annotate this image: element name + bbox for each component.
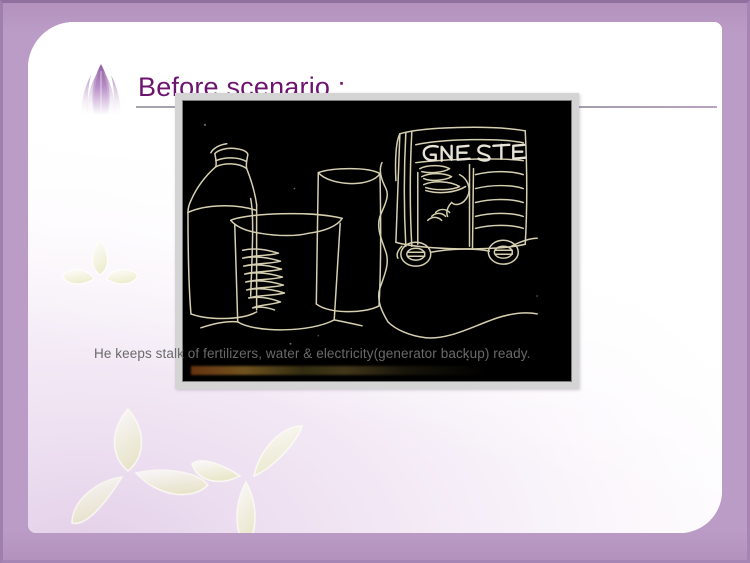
image-caption: He keeps stalk of fertilizers, water & e… — [94, 346, 530, 361]
picture-frame[interactable] — [175, 93, 579, 389]
slide-panel: Before scenario : — [28, 22, 722, 533]
chalk-sketch — [183, 101, 571, 382]
ground-strip — [191, 366, 486, 375]
slide-frame: Before scenario : — [0, 0, 750, 563]
chalkboard-image — [182, 100, 572, 382]
lotus-bud-icon — [78, 63, 124, 119]
